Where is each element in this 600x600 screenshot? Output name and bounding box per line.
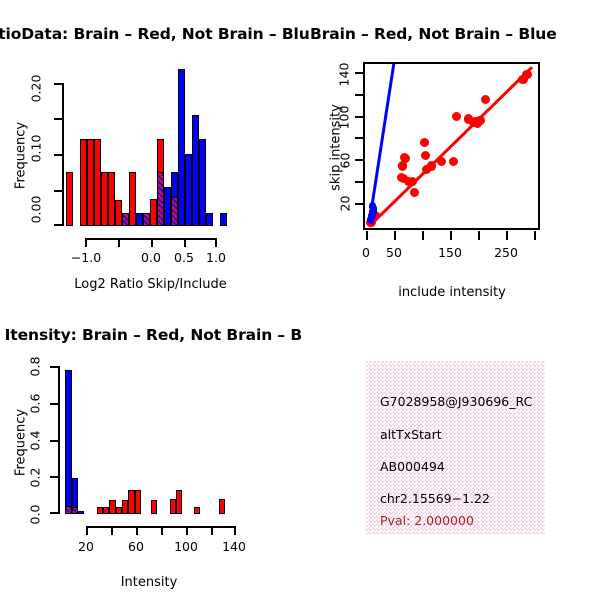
ratio-ytick-mark-0.15 [54,118,63,120]
scatter-point [481,95,490,104]
scatter-plot-area [365,64,538,228]
intensity-histogram-ylabel: Frequency [14,403,29,483]
histogram-bar [176,490,182,514]
intensity-ytick-0.4: 0.4 [28,427,43,455]
histogram-bar [108,172,115,226]
panel-intensity-scatter: Brain – Red, Not Brain – Blue skip inten… [300,0,600,300]
ratio-ytick-0.00: 0.00 [29,192,44,228]
intensity-xtick-100: 100 [168,539,204,554]
histogram-bar [164,187,171,226]
regression-line [368,66,533,228]
histogram-bar [206,213,213,226]
histogram-bar [157,172,164,226]
histogram-bar [151,500,157,514]
histogram-bar [122,213,129,226]
intensity-ytick-mark-0.2 [50,476,59,478]
ratio-ytick-mark-0.05 [54,190,63,192]
scatter-point [452,112,461,121]
ratio-histogram-plot-area [63,66,241,226]
intensity-ytick-mark-0.0 [50,512,59,514]
histogram-bar [178,69,185,226]
annotation-probeset-id: G7028958@J930696_RC [380,394,532,409]
scatter-xtick-mark-300 [534,231,536,240]
ratio-xtick--1.0: −1.0 [66,250,106,265]
panel-ratio-histogram: RatioData: Brain – Red, Not Brain – Blu … [0,0,300,300]
annotation-locus: chr2.15569−1.22 [380,491,490,506]
histogram-bar [199,139,206,226]
histogram-bar [220,213,227,226]
scatter-xtick-250: 250 [489,245,523,260]
scatter-ytick-140: 140 [337,60,352,90]
ratio-xtick-mark-0.5 [184,238,186,247]
intensity-histogram-title: ne Itensity: Brain – Red, Not Brain – B [0,326,302,344]
intensity-ytick-mark-0.6 [50,403,59,405]
scatter-xlabel: include intensity [363,285,541,300]
scatter-point [421,151,430,160]
scatter-ytick-60: 60 [338,149,353,173]
intensity-xtick-mark-20 [86,526,88,535]
intensity-xtick-20: 20 [70,539,102,554]
intensity-xtick-mark-60 [136,526,138,535]
intensity-xtick-60: 60 [120,539,152,554]
histogram-bar [129,172,136,226]
scatter-point [420,138,429,147]
scatter-point [369,202,376,209]
ratio-histogram-title: RatioData: Brain – Red, Not Brain – Blu [0,25,310,43]
histogram-bar [78,511,84,514]
scatter-point [408,177,417,186]
scatter-xtick-mark-150 [450,231,452,240]
scatter-title: Brain – Red, Not Brain – Blue [310,25,557,43]
ratio-xtick-0.5: 0.5 [166,250,202,265]
ratio-histogram-ylabel: Frequency [14,116,29,196]
histogram-bar [150,199,157,226]
histogram-bar [135,490,141,514]
gene-annotation-box: G7028958@J930696_RC altTxStart AB000494 … [366,361,545,534]
intensity-ytick-0.2: 0.2 [28,464,43,492]
histogram-bar [194,507,200,514]
annotation-pval: Pval: 2.000000 [380,513,474,528]
intensity-ytick-0.0: 0.0 [28,501,43,529]
intensity-xtick-140: 140 [216,539,252,554]
scatter-point [449,157,458,166]
intensity-ytick-mark-0.4 [50,440,59,442]
scatter-point [401,154,410,163]
intensity-xtick-mark-140 [234,526,236,535]
histogram-bar [101,172,108,226]
ratio-histogram-xlabel: Log2 Ratio Skip/Include [43,277,258,292]
scatter-ytick-100: 100 [337,103,352,133]
intensity-xtick-mark-40 [111,526,113,535]
scatter-point [437,157,446,166]
ratio-xtick-mark-0.0 [151,238,153,247]
ratio-xtick-mark--1.0 [85,238,87,247]
histogram-bar [115,200,122,226]
annotation-event-type: altTxStart [380,427,442,442]
intensity-xtick-mark-80 [161,526,163,535]
scatter-point [522,70,531,79]
scatter-xtick-150: 150 [433,245,467,260]
ratio-ytick-mark-0.10 [54,154,63,156]
intensity-ytick-0.6: 0.6 [28,390,43,418]
histogram-bar [219,499,225,514]
histogram-bar [94,139,101,226]
annotation-accession: AB000494 [380,459,445,474]
ratio-xtick-mark--0.5 [118,238,120,247]
scatter-point [475,116,484,125]
intensity-histogram-xlabel: Intensity [59,575,239,590]
figure-canvas: RatioData: Brain – Red, Not Brain – Blu … [0,0,600,600]
histogram-bar [143,213,150,226]
histogram-bar [136,213,143,226]
histogram-bar [80,139,87,226]
ratio-xtick-0.0: 0.0 [133,250,169,265]
ratio-ytick-0.10: 0.10 [29,131,44,167]
scatter-xtick-0: 0 [351,245,381,260]
histogram-bar [66,172,73,226]
ratio-ytick-mark-0.20 [54,83,63,85]
panel-intensity-histogram: ne Itensity: Brain – Red, Not Brain – B … [0,300,300,600]
ratio-ytick-mark-0.00 [54,224,63,226]
histogram-bar [171,197,178,226]
intensity-xtick-mark-100 [186,526,188,535]
scatter-ytick-20: 20 [338,192,353,216]
ratio-ytick-0.20: 0.20 [29,71,44,107]
histogram-bar [87,139,94,226]
intensity-xtick-mark-120 [211,526,213,535]
intensity-ytick-mark-0.8 [50,366,59,368]
scatter-xtick-mark-0 [366,231,368,240]
scatter-plot-frame [363,62,540,230]
histogram-bar [192,115,199,226]
scatter-point [427,161,436,170]
intensity-ytick-0.8: 0.8 [28,353,43,381]
ratio-xtick-mark-1.0 [215,238,217,247]
intensity-histogram-plot-area [59,363,239,514]
histogram-bar [72,507,78,514]
scatter-xtick-50: 50 [379,245,409,260]
scatter-xtick-mark-200 [478,231,480,240]
ratio-xtick-1.0: 1.0 [198,250,234,265]
scatter-point [410,188,419,197]
scatter-xtick-mark-250 [506,231,508,240]
histogram-bar [185,154,192,226]
scatter-xtick-mark-100 [422,231,424,240]
scatter-xtick-mark-50 [394,231,396,240]
